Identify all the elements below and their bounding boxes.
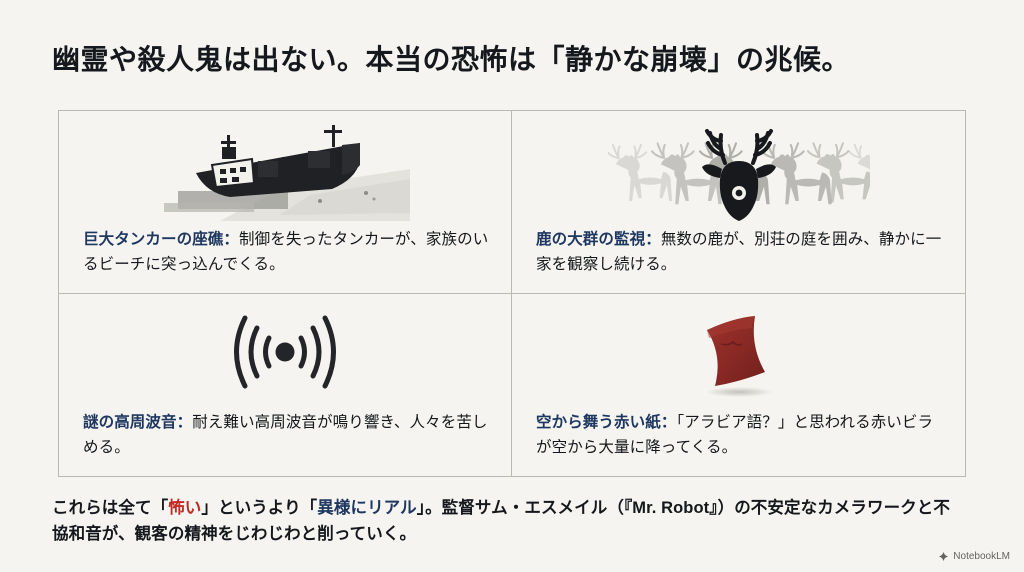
caption-red-paper: 空から舞う赤い紙：「アラビア語？」と思われる赤いビラが空から大量に降ってくる。 (536, 410, 945, 460)
caption-sound: 謎の高周波音：耐え難い高周波音が鳴り響き、人々を苦しめる。 (83, 410, 491, 460)
notebooklm-spark-icon (938, 551, 949, 562)
deer-herd-icon (512, 115, 965, 223)
footer-highlight-blue: 異様にリアル (317, 499, 416, 517)
caption-separator: ： (177, 414, 193, 431)
footer-part2: 」というより「 (201, 499, 317, 517)
falling-red-paper-icon (512, 298, 965, 406)
notebooklm-watermark: NotebookLM (938, 551, 1010, 562)
grid-cell-tanker: 巨大タンカーの座礁：制御を失ったタンカーが、家族のいるビーチに突っ込んでくる。 (59, 111, 512, 294)
feature-grid: 巨大タンカーの座礁：制御を失ったタンカーが、家族のいるビーチに突っ込んでくる。 (58, 110, 966, 477)
caption-lead-red-paper: 空から舞う赤い紙 (536, 414, 661, 431)
grounded-tanker-ship-icon (59, 115, 511, 223)
grid-cell-red-paper: 空から舞う赤い紙：「アラビア語？」と思われる赤いビラが空から大量に降ってくる。 (512, 294, 965, 477)
caption-lead-tanker: 巨大タンカーの座礁 (83, 231, 223, 248)
grid-cell-deer: 鹿の大群の監視：無数の鹿が、別荘の庭を囲み、静かに一家を観察し続ける。 (512, 111, 965, 294)
notebooklm-label: NotebookLM (953, 551, 1010, 562)
page-title: 幽霊や殺人鬼は出ない。本当の恐怖は「静かな崩壊」の兆候。 (52, 42, 982, 77)
caption-deer: 鹿の大群の監視：無数の鹿が、別荘の庭を囲み、静かに一家を観察し続ける。 (536, 227, 945, 277)
radio-sound-wave-icon (59, 298, 511, 406)
caption-separator: ： (661, 414, 677, 431)
grid-cell-sound: 謎の高周波音：耐え難い高周波音が鳴り響き、人々を苦しめる。 (59, 294, 512, 477)
caption-separator: ： (223, 231, 239, 248)
caption-separator: ： (645, 231, 661, 248)
caption-tanker: 巨大タンカーの座礁：制御を失ったタンカーが、家族のいるビーチに突っ込んでくる。 (83, 227, 491, 277)
slide-root: 幽霊や殺人鬼は出ない。本当の恐怖は「静かな崩壊」の兆候。 (0, 0, 1024, 572)
caption-lead-deer: 鹿の大群の監視 (536, 231, 645, 248)
footer-summary: これらは全て「怖い」というより「異様にリアル」。監督サム・エスメイル（『Mr. … (52, 495, 952, 547)
footer-part1: これらは全て「 (52, 499, 168, 517)
footer-highlight-red: 怖い (168, 499, 201, 517)
caption-lead-sound: 謎の高周波音 (83, 414, 177, 431)
